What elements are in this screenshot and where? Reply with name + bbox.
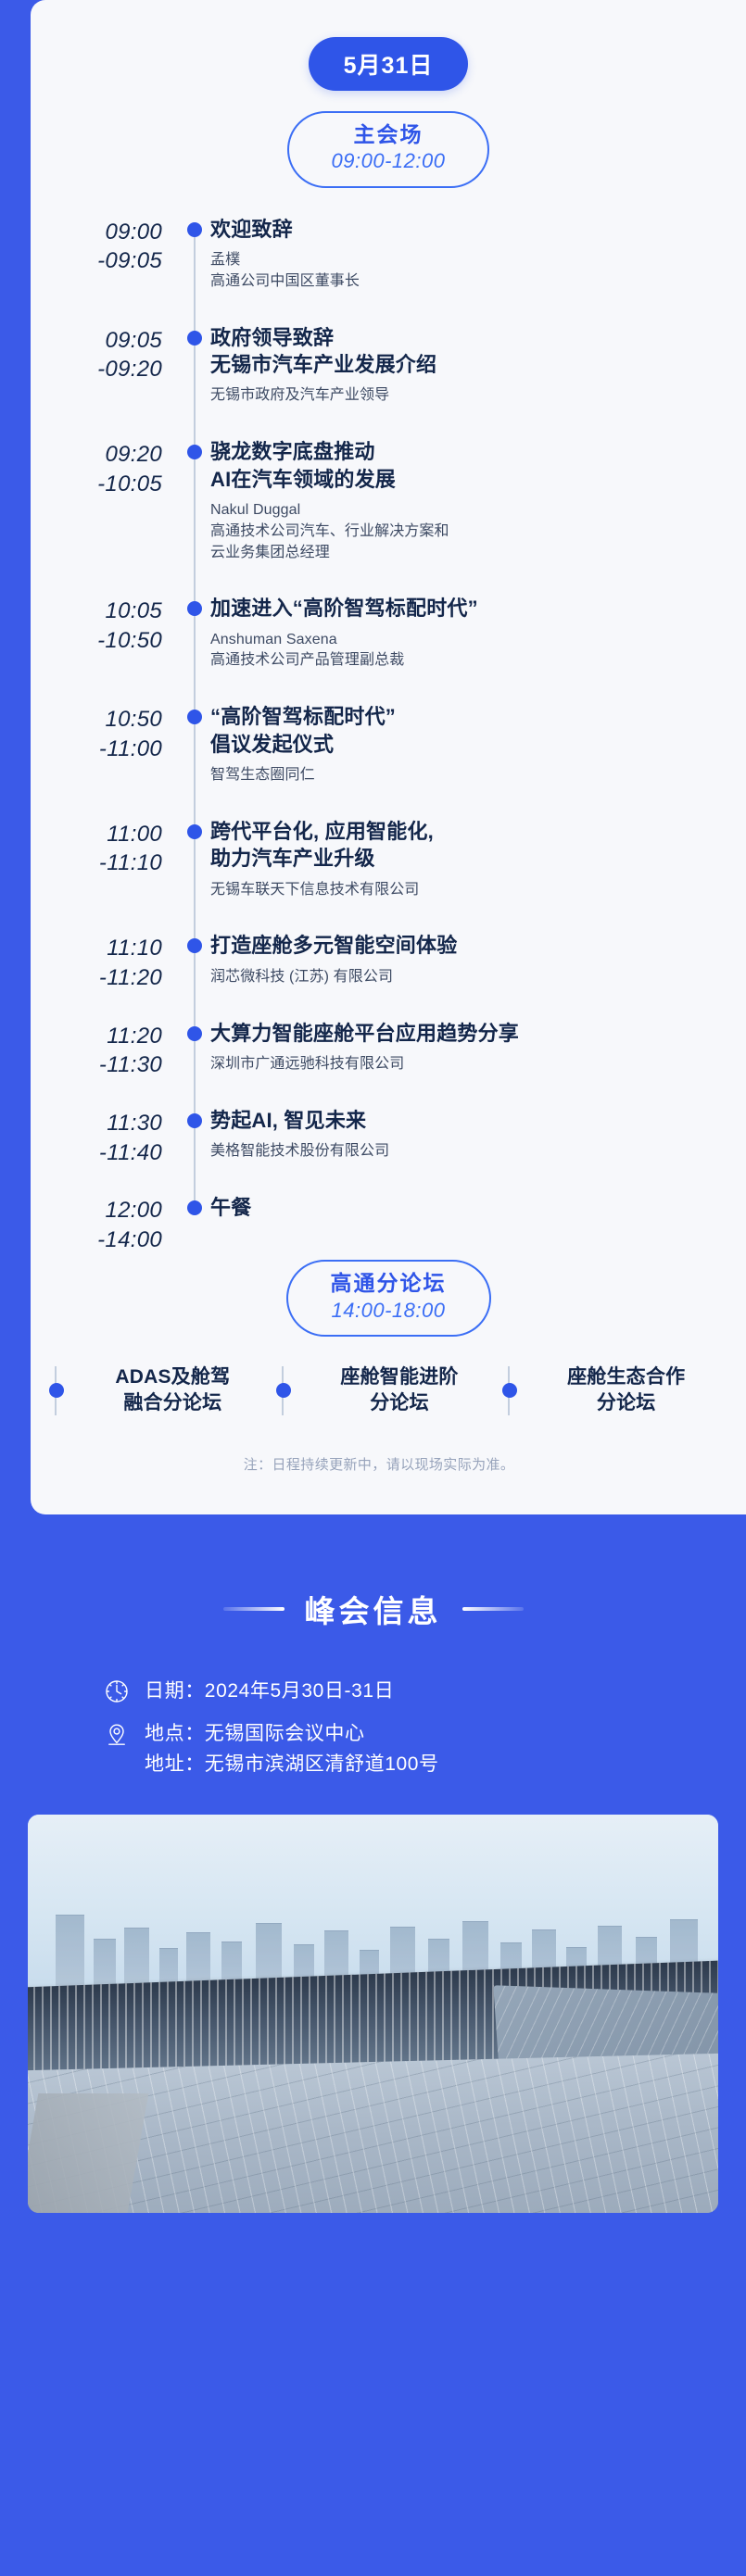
agenda-body: “高阶智驾标配时代” 倡议发起仪式 智驾生态圈同仁: [210, 703, 729, 818]
timeline-dot-icon: [187, 1200, 202, 1215]
agenda-row: 10:05 -10:50 加速进入“高阶智驾标配时代” Anshuman Sax…: [31, 595, 729, 703]
agenda-time-end: -14:00: [31, 1225, 162, 1255]
forum-dot-icon: [502, 1383, 517, 1398]
agenda-body: 跨代平台化, 应用智能化, 助力汽车产业升级 无锡车联天下信息技术有限公司: [210, 818, 729, 933]
location-pin-icon: [104, 1721, 130, 1747]
agenda-row: 11:00 -11:10 跨代平台化, 应用智能化, 助力汽车产业升级 无锡车联…: [31, 818, 729, 933]
agenda-time-end: -10:50: [31, 626, 162, 656]
agenda-speaker: 孟樸: [210, 250, 720, 271]
agenda-subtitle: 孟樸 高通公司中国区董事长: [210, 250, 720, 292]
agenda-time-end: -11:20: [31, 963, 162, 993]
sub-session-time: 14:00-18:00: [331, 1298, 447, 1324]
timeline-dot-icon: [187, 601, 202, 616]
agenda-time: 11:30 -11:40: [31, 1107, 179, 1167]
agenda-title-line: 加速进入“高阶智驾标配时代”: [210, 595, 720, 622]
forum-label-line: 融合分论坛: [68, 1390, 278, 1416]
agenda-time: 11:20 -11:30: [31, 1020, 179, 1080]
agenda-time-end: -11:00: [31, 735, 162, 764]
agenda-title-line: 倡议发起仪式: [210, 731, 720, 758]
forum-item-adas[interactable]: ADAS及舱驾 融合分论坛: [51, 1364, 278, 1417]
agenda-row: 10:50 -11:00 “高阶智驾标配时代” 倡议发起仪式 智驾生态圈同仁: [31, 703, 729, 818]
summit-title: 峰会信息: [305, 1587, 442, 1631]
summit-address: 地址：无锡市滨湖区清舒道100号: [145, 1749, 746, 1779]
agenda-title: 午餐: [210, 1194, 720, 1221]
agenda-time-start: 11:20: [107, 1024, 162, 1049]
forum-dot-icon: [276, 1383, 291, 1398]
forum-item-cockpit-intelligence[interactable]: 座舱智能进阶 分论坛: [278, 1364, 505, 1417]
agenda-affiliation: 云业务集团总经理: [210, 543, 720, 564]
timeline-dot-icon: [187, 824, 202, 839]
timeline-dot-icon: [187, 222, 202, 237]
clock-icon: [104, 1678, 130, 1704]
agenda-affiliation: 深圳市广通远驰科技有限公司: [210, 1054, 720, 1075]
forum-label: 座舱智能进阶 分论坛: [295, 1364, 505, 1417]
agenda-affiliation: 智驾生态圈同仁: [210, 765, 720, 786]
agenda-time-end: -10:05: [31, 470, 162, 499]
agenda-title: 大算力智能座舱平台应用趋势分享: [210, 1020, 720, 1047]
agenda-title-line: 午餐: [210, 1194, 720, 1221]
agenda-affiliation: 无锡市政府及汽车产业领导: [210, 385, 720, 407]
agenda-time: 09:20 -10:05: [31, 438, 179, 498]
agenda-title-line: 大算力智能座舱平台应用趋势分享: [210, 1020, 720, 1047]
sub-session-pill-row: 高通分论坛 14:00-18:00: [31, 1260, 746, 1337]
agenda-time-end: -09:20: [31, 355, 162, 384]
photo-road: [28, 2093, 149, 2213]
main-session-pill: 主会场 09:00-12:00: [287, 111, 490, 188]
agenda-note: 注：日程持续更新中，请以现场实际为准。: [31, 1454, 746, 1474]
agenda-body: 加速进入“高阶智驾标配时代” Anshuman Saxena 高通技术公司产品管…: [210, 595, 729, 703]
agenda-time-start: 12:00: [105, 1198, 162, 1223]
agenda-body: 欢迎致辞 孟樸 高通公司中国区董事长: [210, 216, 729, 324]
agenda-time: 11:10 -11:20: [31, 932, 179, 992]
agenda-time: 10:50 -11:00: [31, 703, 179, 763]
agenda-title-line: 无锡市汽车产业发展介绍: [210, 351, 720, 378]
agenda-subtitle: Anshuman Saxena 高通技术公司产品管理副总裁: [210, 630, 720, 672]
agenda-speaker: Anshuman Saxena: [210, 630, 720, 651]
timeline-rail: [179, 216, 210, 324]
agenda-body: 势起AI, 智见未来 美格智能技术股份有限公司: [210, 1107, 729, 1194]
agenda-title-line: 政府领导致辞: [210, 324, 720, 351]
timeline-dot-icon: [187, 710, 202, 724]
timeline-rail: [179, 324, 210, 439]
forum-label: ADAS及舱驾 融合分论坛: [68, 1364, 278, 1417]
agenda-affiliation: 高通公司中国区董事长: [210, 271, 720, 293]
summit-info-list: 日期：2024年5月30日-31日 地点：无锡国际会议中心 地址：无锡市滨湖区清…: [0, 1676, 746, 1780]
agenda-row: 12:00 -14:00 午餐: [31, 1194, 729, 1254]
timeline-rail: [179, 1107, 210, 1194]
agenda-body: 政府领导致辞 无锡市汽车产业发展介绍 无锡市政府及汽车产业领导: [210, 324, 729, 439]
timeline-dot-icon: [187, 1113, 202, 1128]
agenda-subtitle: 智驾生态圈同仁: [210, 765, 720, 786]
agenda-subtitle: 美格智能技术股份有限公司: [210, 1141, 720, 1162]
summit-info-section: 峰会信息 日期：2024年5月30日-31日: [0, 1514, 746, 2214]
agenda-row: 11:10 -11:20 打造座舱多元智能空间体验 润芯微科技 (江苏) 有限公…: [31, 932, 729, 1019]
agenda-time-end: -11:30: [31, 1050, 162, 1080]
forum-label: 座舱生态合作 分论坛: [521, 1364, 731, 1417]
agenda-body: 打造座舱多元智能空间体验 润芯微科技 (江苏) 有限公司: [210, 932, 729, 1019]
venue-photo: [28, 1815, 718, 2213]
agenda-subtitle: Nakul Duggal 高通技术公司汽车、行业解决方案和 云业务集团总经理: [210, 500, 720, 563]
summit-location-texts: 地点：无锡国际会议中心 地址：无锡市滨湖区清舒道100号: [145, 1718, 746, 1779]
agenda-title: 势起AI, 智见未来: [210, 1107, 720, 1134]
venue-photo-wrap: [0, 1815, 746, 2213]
timeline-rail: [179, 932, 210, 1019]
agenda-time-end: -09:05: [31, 246, 162, 276]
timeline-rail: [179, 438, 210, 595]
forum-list: ADAS及舱驾 融合分论坛 座舱智能进阶 分论坛 座舱生态合作 分论坛: [31, 1364, 746, 1417]
agenda-time-start: 11:30: [107, 1111, 162, 1136]
forum-label-line: ADAS及舱驾: [68, 1364, 278, 1390]
agenda-time: 12:00 -14:00: [31, 1194, 179, 1254]
sub-session-pill: 高通分论坛 14:00-18:00: [286, 1260, 491, 1337]
timeline-dot-icon: [187, 331, 202, 346]
agenda-title: 加速进入“高阶智驾标配时代”: [210, 595, 720, 622]
agenda-title: 跨代平台化, 应用智能化, 助力汽车产业升级: [210, 818, 720, 873]
agenda-time-start: 11:10: [107, 936, 162, 961]
agenda-timeline: 09:00 -09:05 欢迎致辞 孟樸 高通公司中国区董事长 0: [31, 216, 746, 1255]
poster-page: 5月31日 主会场 09:00-12:00 09:00 -09:05 欢迎致辞: [0, 0, 746, 2576]
main-session-time: 09:00-12:00: [332, 148, 446, 174]
agenda-affiliation: 润芯微科技 (江苏) 有限公司: [210, 967, 720, 988]
timeline-rail: [179, 818, 210, 933]
agenda-time-start: 09:05: [105, 328, 162, 353]
agenda-affiliation: 高通技术公司产品管理副总裁: [210, 650, 720, 672]
agenda-row: 09:00 -09:05 欢迎致辞 孟樸 高通公司中国区董事长: [31, 216, 729, 324]
forum-label-line: 座舱生态合作: [521, 1364, 731, 1390]
agenda-title: 欢迎致辞: [210, 216, 720, 243]
summit-date: 日期：2024年5月30日-31日: [145, 1680, 394, 1702]
agenda-title: 骁龙数字底盘推动 AI在汽车领域的发展: [210, 438, 720, 493]
agenda-body: 骁龙数字底盘推动 AI在汽车领域的发展 Nakul Duggal 高通技术公司汽…: [210, 438, 729, 595]
agenda-affiliation: 高通技术公司汽车、行业解决方案和: [210, 521, 720, 543]
main-session-pill-row: 主会场 09:00-12:00: [31, 111, 746, 188]
agenda-time: 11:00 -11:10: [31, 818, 179, 878]
forum-item-cockpit-ecosystem[interactable]: 座舱生态合作 分论坛: [504, 1364, 731, 1417]
agenda-row: 11:30 -11:40 势起AI, 智见未来 美格智能技术股份有限公司: [31, 1107, 729, 1194]
divider-rule-left: [223, 1607, 284, 1611]
summit-venue: 地点：无锡国际会议中心: [145, 1718, 746, 1749]
summit-info-row-location: 地点：无锡国际会议中心 地址：无锡市滨湖区清舒道100号: [104, 1718, 746, 1779]
agenda-title-line: 骁龙数字底盘推动: [210, 438, 720, 465]
agenda-body: 午餐: [210, 1194, 729, 1252]
agenda-title-line: 势起AI, 智见未来: [210, 1107, 720, 1134]
agenda-title-line: 跨代平台化, 应用智能化,: [210, 818, 720, 845]
timeline-rail: [179, 1020, 210, 1107]
forum-label-line: 分论坛: [521, 1390, 731, 1416]
date-badge: 5月31日: [309, 37, 469, 91]
agenda-subtitle: 无锡市政府及汽车产业领导: [210, 385, 720, 407]
agenda-title-line: 打造座舱多元智能空间体验: [210, 932, 720, 959]
agenda-row: 11:20 -11:30 大算力智能座舱平台应用趋势分享 深圳市广通远驰科技有限…: [31, 1020, 729, 1107]
agenda-title: 政府领导致辞 无锡市汽车产业发展介绍: [210, 324, 720, 379]
timeline-dot-icon: [187, 1026, 202, 1041]
agenda-time: 09:05 -09:20: [31, 324, 179, 384]
main-session-title: 主会场: [332, 121, 446, 148]
summit-info-row-date: 日期：2024年5月30日-31日: [104, 1676, 746, 1706]
timeline-rail: [179, 703, 210, 818]
agenda-row: 09:05 -09:20 政府领导致辞 无锡市汽车产业发展介绍 无锡市政府及汽车…: [31, 324, 729, 439]
agenda-speaker: Nakul Duggal: [210, 500, 720, 521]
timeline-rail: [179, 1194, 210, 1254]
agenda-time-start: 11:00: [107, 822, 162, 847]
agenda-time-start: 10:05: [105, 598, 162, 623]
agenda-body: 大算力智能座舱平台应用趋势分享 深圳市广通远驰科技有限公司: [210, 1020, 729, 1107]
agenda-affiliation: 美格智能技术股份有限公司: [210, 1141, 720, 1162]
forum-dot-icon: [49, 1383, 64, 1398]
agenda-row: 09:20 -10:05 骁龙数字底盘推动 AI在汽车领域的发展 Nakul D…: [31, 438, 729, 595]
agenda-subtitle: 深圳市广通远驰科技有限公司: [210, 1054, 720, 1075]
forum-label-line: 座舱智能进阶: [295, 1364, 505, 1390]
forum-label-line: 分论坛: [295, 1390, 505, 1416]
agenda-title-line: “高阶智驾标配时代”: [210, 703, 720, 730]
agenda-time-end: -11:40: [31, 1138, 162, 1168]
agenda-time: 10:05 -10:50: [31, 595, 179, 655]
agenda-time-start: 09:20: [105, 442, 162, 467]
agenda-time-start: 09:00: [105, 220, 162, 245]
summit-heading: 峰会信息: [0, 1587, 746, 1631]
agenda-title-line: 助力汽车产业升级: [210, 845, 720, 872]
timeline-dot-icon: [187, 938, 202, 953]
timeline-rail: [179, 595, 210, 703]
agenda-title-line: 欢迎致辞: [210, 216, 720, 243]
agenda-title-line: AI在汽车领域的发展: [210, 466, 720, 493]
sub-session-title: 高通分论坛: [331, 1270, 447, 1297]
agenda-title: “高阶智驾标配时代” 倡议发起仪式: [210, 703, 720, 758]
agenda-time-end: -11:10: [31, 848, 162, 878]
agenda-title: 打造座舱多元智能空间体验: [210, 932, 720, 959]
date-badge-row: 5月31日: [31, 37, 746, 91]
summit-date-texts: 日期：2024年5月30日-31日: [145, 1676, 746, 1706]
agenda-card: 5月31日 主会场 09:00-12:00 09:00 -09:05 欢迎致辞: [31, 0, 746, 1514]
divider-rule-right: [462, 1607, 524, 1611]
agenda-subtitle: 润芯微科技 (江苏) 有限公司: [210, 967, 720, 988]
agenda-affiliation: 无锡车联天下信息技术有限公司: [210, 880, 720, 901]
timeline-dot-icon: [187, 445, 202, 459]
agenda-time-start: 10:50: [105, 707, 162, 732]
agenda-time: 09:00 -09:05: [31, 216, 179, 276]
agenda-subtitle: 无锡车联天下信息技术有限公司: [210, 880, 720, 901]
